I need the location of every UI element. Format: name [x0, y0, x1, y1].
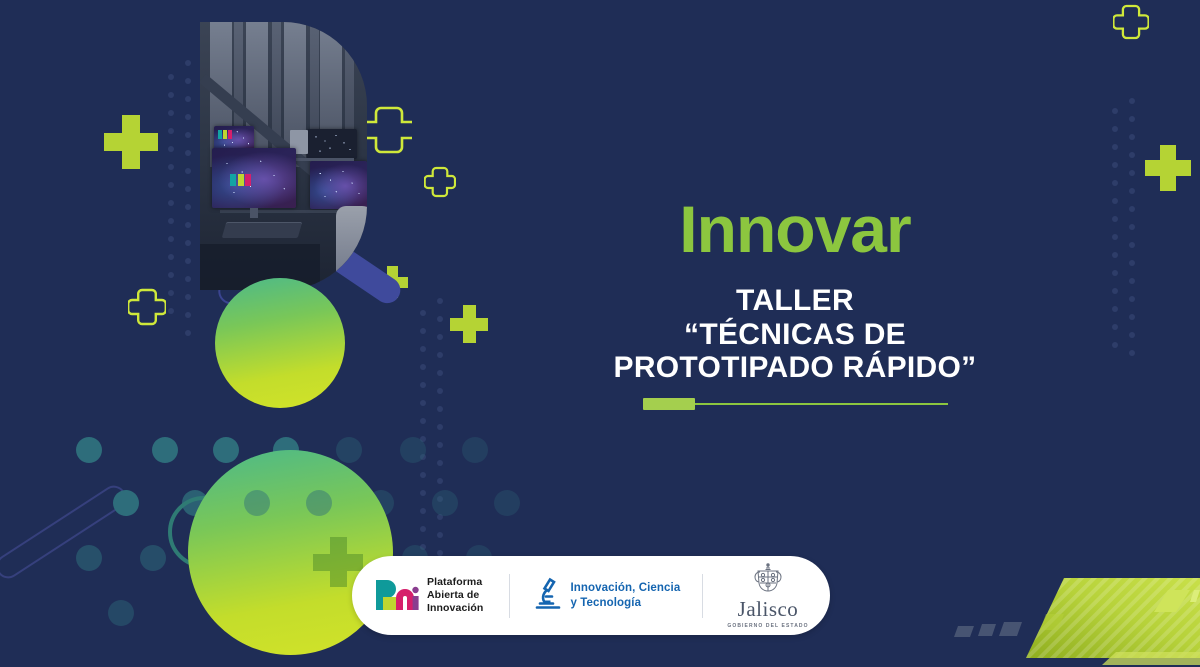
ict-line-2: y Tecnología	[570, 596, 680, 611]
logo-bar: Plataforma Abierta de Innovación	[352, 556, 830, 635]
title-underline-rule	[643, 403, 948, 405]
page-subtitle: TALLER “TÉCNICAS DE PROTOTIPADO RÁPIDO”	[560, 284, 1030, 385]
ict-logo-text: Innovación, Ciencia y Tecnología	[570, 581, 680, 610]
pai-line-3: Innovación	[427, 602, 483, 615]
teal-dot-overlay-2	[306, 490, 332, 516]
jalisco-subtitle: GOBIERNO DEL ESTADO	[727, 623, 808, 629]
pai-logo-text: Plataforma Abierta de Innovación	[427, 576, 483, 615]
dot-column-right-2	[1129, 98, 1135, 368]
dot-column-right	[1112, 108, 1118, 360]
dot-column-center	[420, 310, 426, 562]
monitor-main	[212, 148, 296, 208]
dot-column-left-2	[185, 60, 191, 348]
plus-icon-solid-1	[104, 115, 158, 169]
logo-ict: Innovación, Ciencia y Tecnología	[534, 576, 680, 615]
microscope-icon	[534, 576, 562, 615]
ict-line-1: Innovación, Ciencia	[570, 581, 680, 596]
dot-column-center-2	[437, 298, 443, 568]
logo-divider-1	[509, 574, 510, 618]
logo-divider-2	[702, 574, 703, 618]
green-shard-decoration	[938, 566, 1200, 667]
monitor-right-top	[307, 129, 357, 159]
logo-jalisco: Jalisco GOBIERNO DEL ESTADO	[727, 563, 808, 629]
slide-text-block: Innovar TALLER “TÉCNICAS DE PROTOTIPADO …	[560, 196, 1030, 405]
subtitle-line-1: TALLER	[560, 284, 1030, 318]
jalisco-coat-of-arms-icon	[727, 563, 808, 598]
plus-icon-outline-4	[1113, 4, 1149, 40]
slide-canvas: Innovar TALLER “TÉCNICAS DE PROTOTIPADO …	[0, 0, 1200, 667]
jalisco-name: Jalisco	[727, 599, 808, 620]
plus-icon-solid-3	[450, 305, 488, 343]
plus-icon-outline-1	[360, 104, 412, 156]
diagonal-bar-outline-2	[0, 481, 130, 583]
pai-line-1: Plataforma	[427, 576, 483, 589]
plus-icon-outline-3	[128, 288, 166, 326]
keyboard	[222, 222, 303, 238]
plus-icon-outline-2	[424, 166, 456, 198]
computer-lab-photo	[200, 22, 367, 290]
subtitle-line-2: “TÉCNICAS DE	[560, 318, 1030, 352]
green-circle-top	[215, 278, 345, 408]
subtitle-line-3: PROTOTIPADO RÁPIDO”	[560, 351, 1030, 385]
page-title: Innovar	[560, 196, 1030, 262]
logo-pai: Plataforma Abierta de Innovación	[374, 576, 483, 615]
teal-dot-overlay-1	[244, 490, 270, 516]
dot-column-left	[168, 74, 174, 326]
monitor-right	[310, 161, 367, 209]
pai-logo-mark	[374, 578, 420, 612]
plus-icon-solid-4	[1145, 145, 1191, 191]
chair	[336, 206, 367, 280]
pai-line-2: Abierta de	[427, 589, 483, 602]
